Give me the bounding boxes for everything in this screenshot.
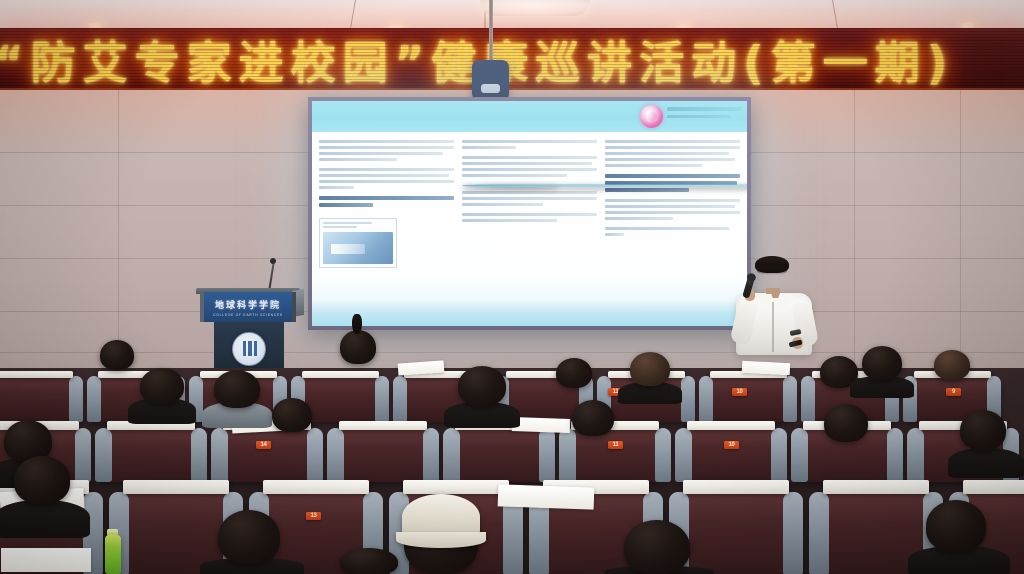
lecture-hall-photo: “防艾专家进校园”健康巡讲活动(第一期): [0, 0, 1024, 574]
auditorium-seat: [0, 378, 82, 422]
audience-head: [572, 400, 614, 436]
auditorium-seat: [560, 430, 670, 482]
slide-paragraph: [462, 213, 597, 222]
speaker-shirt-placket: [772, 302, 774, 352]
university-emblem-icon: [232, 332, 266, 366]
audience-head: [624, 520, 690, 574]
audience-head: [218, 510, 280, 564]
wall-panel-seam-vertical: [118, 90, 119, 380]
slide-columns: [312, 132, 747, 326]
podium-name-cn: 地球科学学院: [215, 298, 281, 311]
auditorium-seat: [96, 430, 206, 482]
audience-head: [630, 352, 670, 386]
auditorium-seat: [212, 430, 322, 482]
slide-paragraph: [319, 168, 454, 189]
audience-head: [140, 368, 184, 404]
paper-sheet: [498, 484, 595, 509]
audience-head: [862, 346, 902, 380]
audience-shoulders: [948, 448, 1024, 478]
paper-sheet: [1, 548, 91, 572]
seat-tablet-desk: [0, 371, 73, 378]
slide-column-right: [605, 140, 740, 326]
auditorium-seat: [328, 430, 438, 482]
seat-tablet-desk: [823, 480, 929, 494]
slide-paragraph: [462, 140, 597, 149]
audience-head: [100, 340, 134, 370]
drink-bottle: [105, 535, 121, 574]
wall-panel-seam-vertical: [960, 90, 961, 380]
baseball-cap-brim: [396, 532, 486, 548]
audience-head: [458, 366, 506, 406]
seat-tablet-desk: [302, 371, 379, 378]
seat-number-placard: 10: [724, 441, 739, 449]
article-screenshot: [319, 218, 397, 268]
seat-number-placard: 9: [946, 388, 961, 396]
seat-number-placard: 11: [608, 441, 623, 449]
slide-column-left: [319, 140, 454, 326]
slide-paragraph: [605, 227, 740, 236]
slide-paragraph: [319, 140, 454, 161]
podium-microphone-head: [270, 258, 276, 264]
auditorium-seat: [444, 430, 554, 482]
logo-text-line: [667, 115, 731, 118]
slide-paragraph: [462, 156, 597, 177]
seat-tablet-desk: [123, 480, 229, 494]
audience-head: [824, 404, 868, 442]
slide-header: [312, 101, 747, 132]
audience-head: [340, 330, 376, 364]
article-thumbnail: [323, 232, 393, 264]
auditorium-seat: [700, 378, 796, 422]
audience-head: [934, 350, 970, 380]
audience-head: [960, 410, 1006, 450]
ceiling-light-fixture: [480, 0, 590, 16]
organization-logo-icon: [640, 105, 663, 128]
slide-paragraph-bold: [605, 174, 740, 192]
paper-sheet: [512, 417, 570, 433]
podium-front-panel: 地球科学学院 COLLEGE OF EARTH SCIENCES: [200, 292, 296, 322]
organization-logo-text: [667, 107, 741, 122]
seat-tablet-desk: [683, 480, 789, 494]
seat-number-placard: 14: [256, 441, 271, 449]
seat-number-placard: 10: [732, 388, 747, 396]
speaker-hair: [755, 256, 789, 273]
podium-name-en: COLLEGE OF EARTH SCIENCES: [213, 313, 283, 317]
projector-mount-rod: [489, 0, 493, 62]
projector-lens: [481, 84, 500, 93]
audience-head: [926, 500, 986, 552]
slide-column-middle: [462, 140, 597, 326]
slide-bottom-gradient: [312, 300, 747, 326]
audience-head: [340, 548, 398, 574]
audience-head: [272, 398, 312, 432]
seat-tablet-desk: [263, 480, 369, 494]
projection-screen: [308, 97, 751, 330]
audience-head: [14, 456, 70, 504]
slide-paragraph-bold: [319, 196, 454, 207]
ceiling-projector: [472, 60, 509, 102]
slide-paragraph: [605, 140, 740, 167]
ponytail: [352, 314, 362, 334]
audience-shoulders: [0, 500, 90, 538]
slide-paragraph: [462, 191, 597, 206]
seat-number-placard: 13: [306, 512, 321, 520]
auditorium-seat: [670, 494, 802, 574]
audience-head: [214, 370, 260, 408]
seat-tablet-desk: [687, 421, 775, 430]
seat-tablet-desk: [963, 480, 1024, 494]
seat-tablet-desk: [339, 421, 427, 430]
seat-tablet-desk: [403, 480, 509, 494]
wall-panel-seam-vertical: [854, 90, 855, 380]
paper-sheet: [742, 361, 791, 375]
projected-slide: [312, 101, 747, 326]
audience-head: [556, 358, 592, 388]
auditorium-seat: [676, 430, 786, 482]
logo-text-line: [667, 107, 741, 111]
slide-paragraph: [605, 199, 740, 220]
led-banner: “防艾专家进校园”健康巡讲活动(第一期): [0, 28, 1024, 90]
